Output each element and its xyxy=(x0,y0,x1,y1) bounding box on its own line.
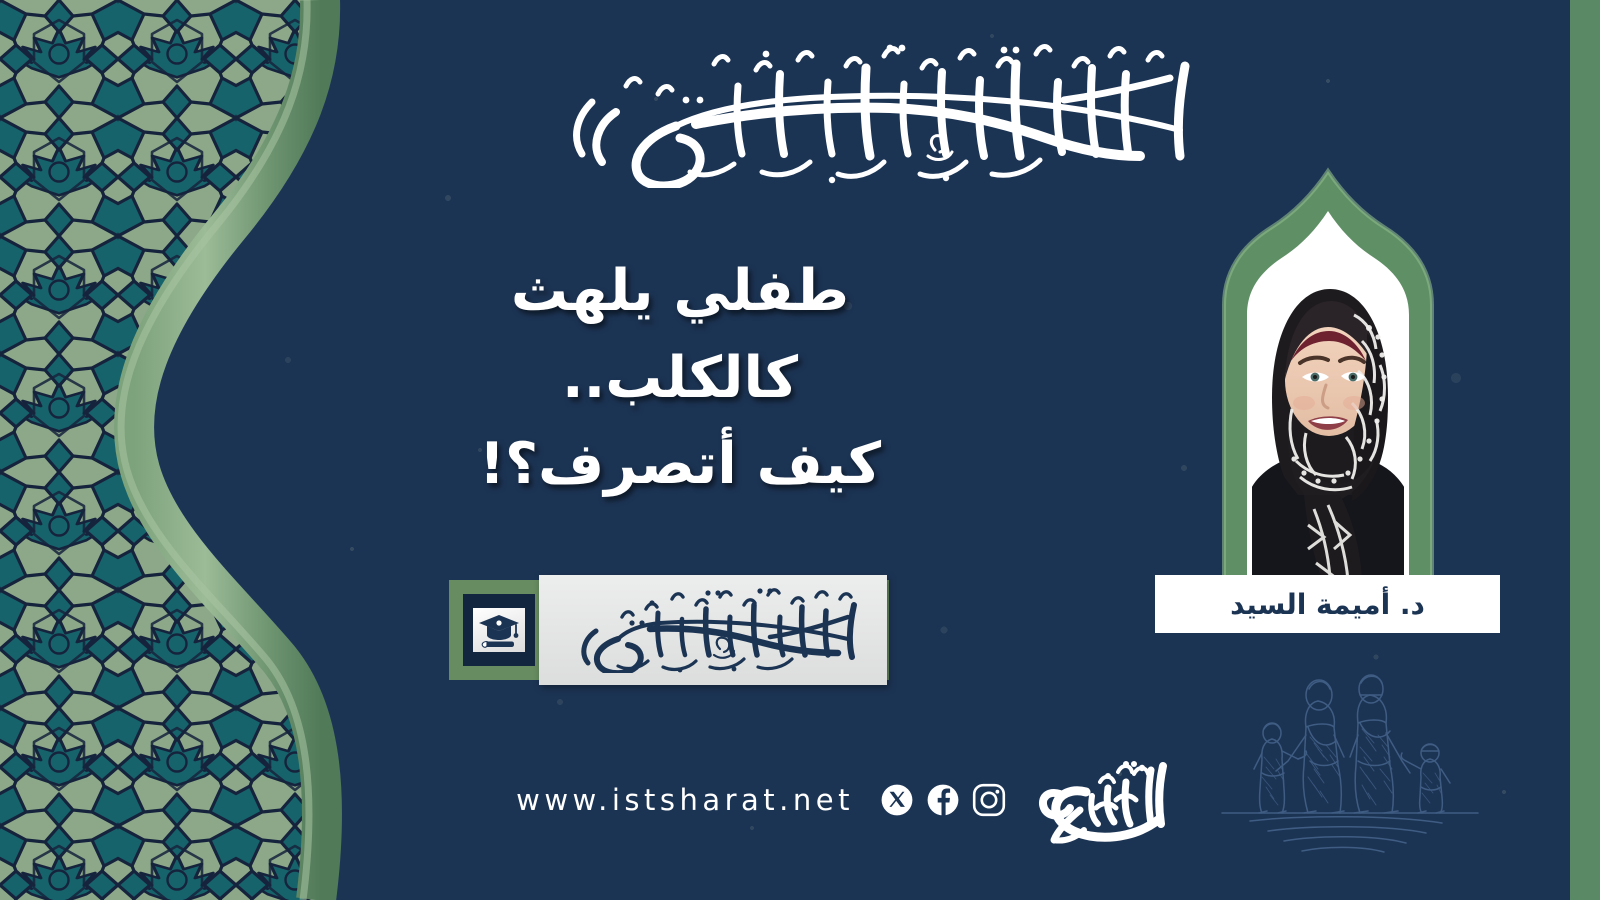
almujtama-logo[interactable]: المجتمع xyxy=(1030,750,1180,850)
graduation-cap-icon xyxy=(473,608,525,652)
family-walking-line-art xyxy=(1210,665,1510,865)
islamic-pattern-panel xyxy=(0,0,400,900)
poster-canvas: طفلي يلهث كالكلب.. كيف أتصرف؟! xyxy=(0,0,1600,900)
social-links xyxy=(880,783,1006,817)
doctor-portrait-frame xyxy=(1148,165,1508,635)
footer-bar: المجتمع xyxy=(560,745,1180,855)
badge-label-panel: استشارات تربوية xyxy=(539,575,887,685)
badge-label-calligraphy: استشارات تربوية xyxy=(548,587,878,673)
badge-icon-box xyxy=(463,594,535,666)
facebook-icon[interactable] xyxy=(926,783,960,817)
category-badge[interactable]: استشارات تربوية xyxy=(449,575,889,685)
x-twitter-icon[interactable] xyxy=(880,783,914,817)
headline-line-2: كيف أتصرف؟! xyxy=(400,421,960,508)
instagram-icon[interactable] xyxy=(972,783,1006,817)
headline: طفلي يلهث كالكلب.. كيف أتصرف؟! xyxy=(400,248,960,508)
headline-line-1: طفلي يلهث كالكلب.. xyxy=(511,258,849,411)
doctor-name: د. أميمة السيد xyxy=(1230,588,1425,621)
website-url[interactable]: www.istsharat.net xyxy=(516,783,854,817)
right-edge-green-strip xyxy=(1570,0,1600,900)
doctor-nameplate: د. أميمة السيد xyxy=(1155,575,1500,633)
header-calligraphy-banner xyxy=(480,38,1220,188)
